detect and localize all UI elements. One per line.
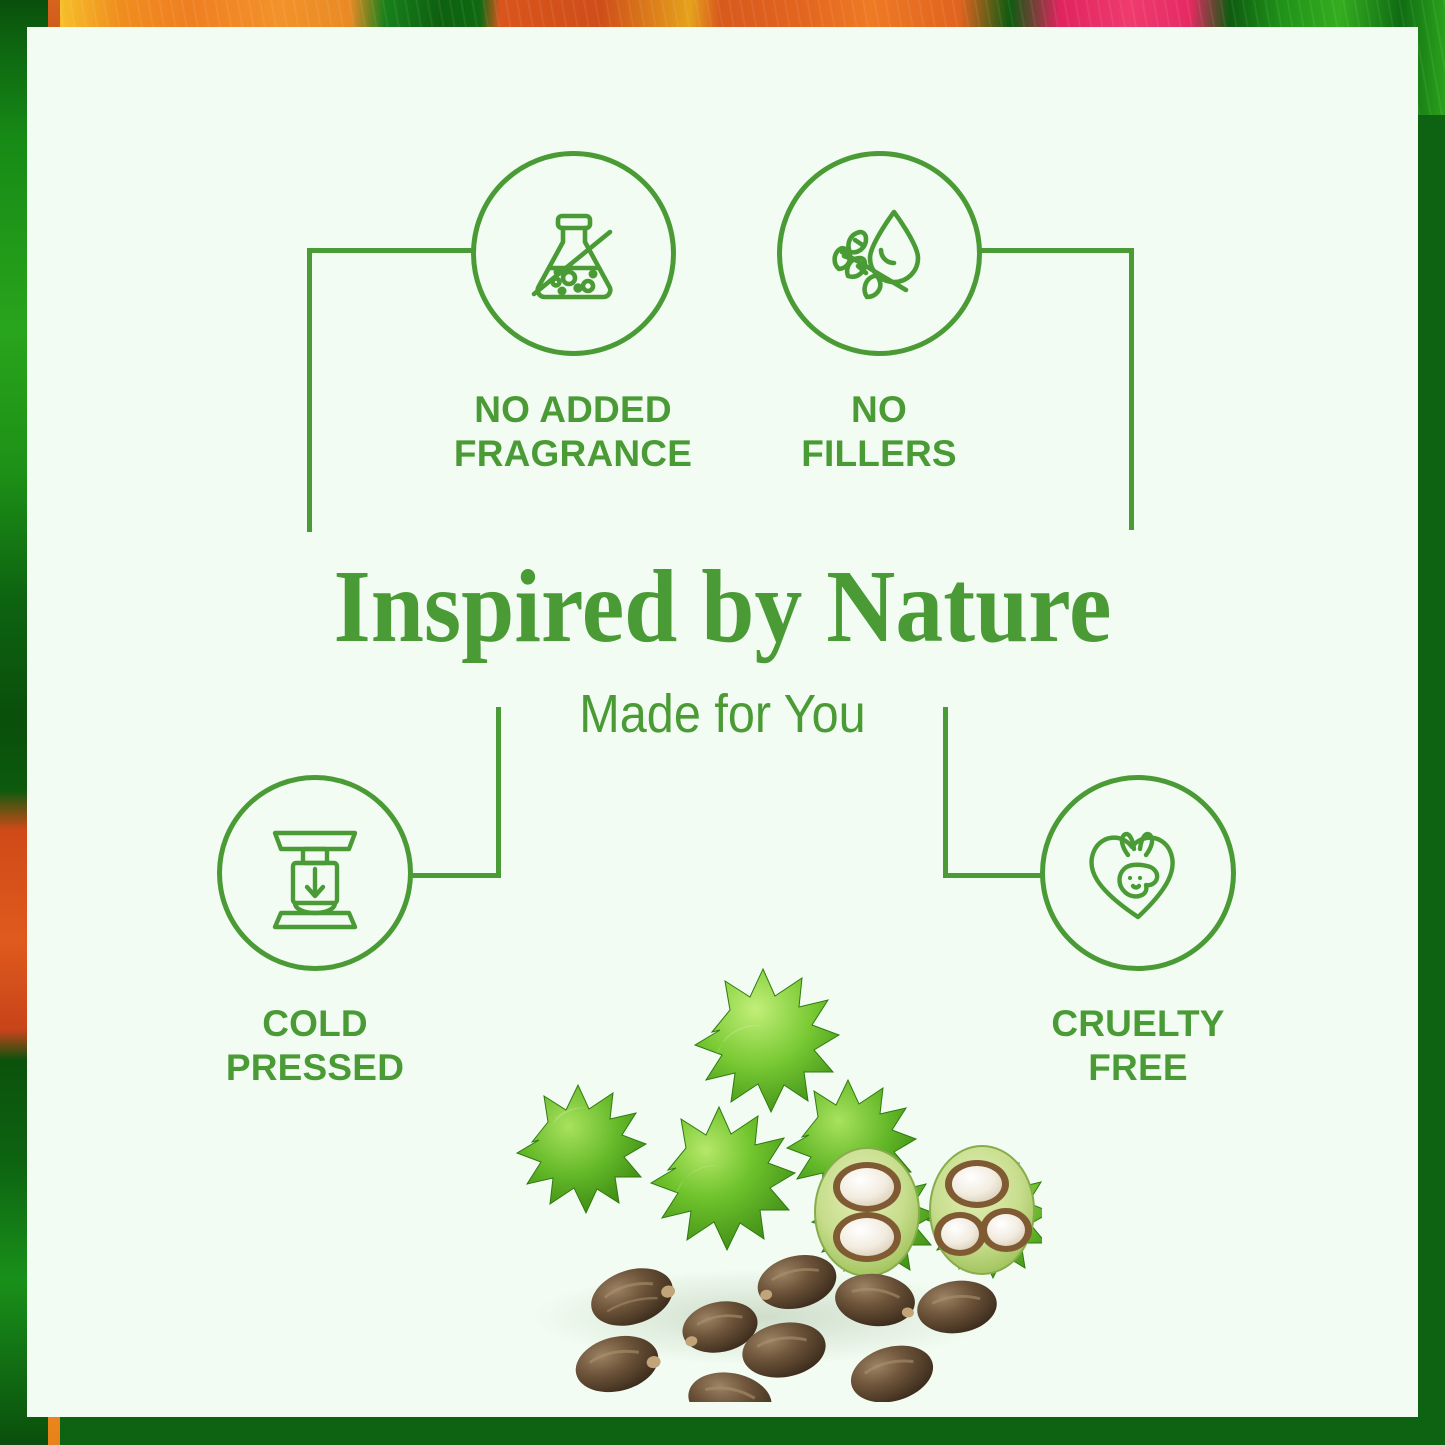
feature-label-no-fillers: NO FILLERS bbox=[679, 388, 1079, 475]
page-title: Inspired by Nature bbox=[83, 555, 1363, 659]
droplet-leaf-icon bbox=[820, 194, 940, 314]
castor-pod-back-left bbox=[517, 1085, 646, 1213]
content-panel: NO ADDED FRAGRANCE bbox=[27, 27, 1418, 1417]
connector-bottom-right-horizontal bbox=[943, 873, 1043, 878]
tropical-frame: NO ADDED FRAGRANCE bbox=[0, 0, 1445, 1445]
feature-icon-no-fillers[interactable] bbox=[777, 151, 982, 356]
feature-icon-cold-pressed[interactable] bbox=[217, 775, 413, 971]
feature-label-cold-pressed: COLD PRESSED bbox=[115, 1002, 515, 1089]
castor-pod-halved-left bbox=[812, 1148, 936, 1280]
connector-top-right-horizontal bbox=[980, 248, 1134, 253]
feature-icon-cruelty-free[interactable] bbox=[1040, 775, 1236, 971]
press-machine-icon bbox=[257, 815, 373, 931]
flask-no-fragrance-icon bbox=[514, 194, 634, 314]
connector-top-left-horizontal bbox=[307, 248, 473, 253]
product-image-castor bbox=[472, 912, 1042, 1402]
castor-pod-top-center bbox=[695, 969, 839, 1112]
bunny-heart-icon bbox=[1078, 817, 1198, 929]
castor-pod-center-front bbox=[651, 1107, 795, 1250]
connector-bottom-left-horizontal bbox=[412, 873, 501, 878]
page-subtitle: Made for You bbox=[97, 687, 1349, 741]
feature-icon-no-added-fragrance[interactable] bbox=[471, 151, 676, 356]
connector-top-left-vertical bbox=[307, 248, 312, 532]
connector-top-right-vertical bbox=[1129, 248, 1134, 530]
castor-pod-halved-right bbox=[927, 1146, 1042, 1278]
